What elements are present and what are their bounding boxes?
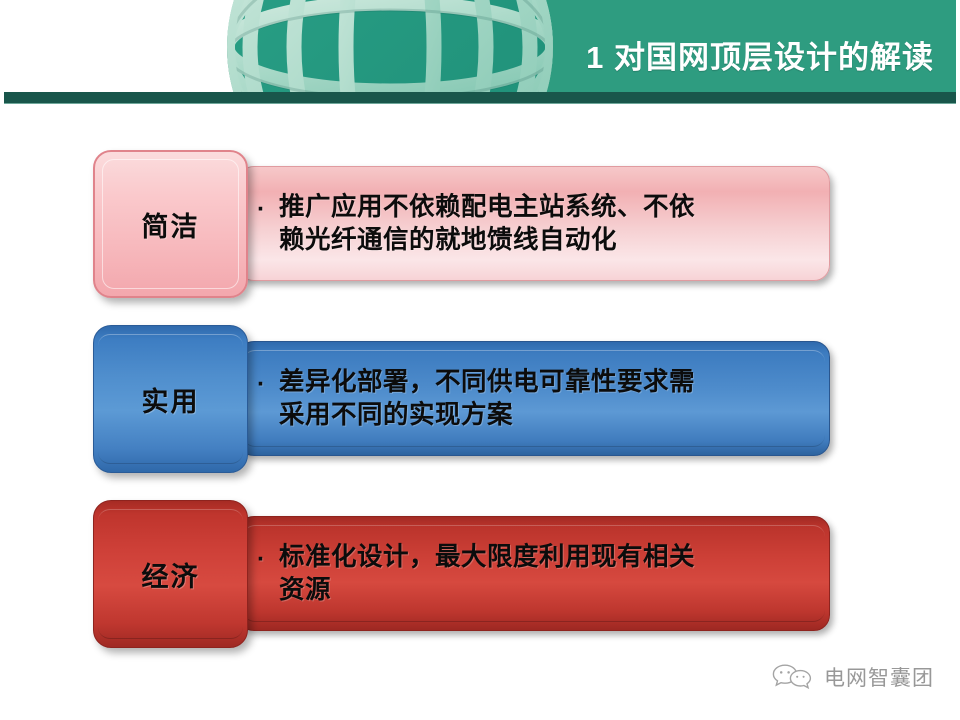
principle-description-line-2: 赖光纤通信的就地馈线自动化 [279, 226, 617, 254]
principle-row-economical: · 标准化设计，最大限度利用现有相关 资源 经济 [0, 500, 960, 650]
principle-description-line-2: 资源 [279, 576, 331, 604]
principle-row-practical: · 差异化部署，不同供电可靠性要求需 采用不同的实现方案 实用 [0, 325, 960, 475]
principle-description-text: · 标准化设计，最大限度利用现有相关 资源 [279, 541, 695, 606]
slide-header: 1 对国网顶层设计的解读 [0, 0, 960, 104]
watermark-label: 电网智囊团 [824, 662, 934, 692]
principle-description-text: · 推广应用不依赖配电主站系统、不依 赖光纤通信的就地馈线自动化 [279, 191, 695, 256]
bullet-icon: · [257, 368, 266, 400]
principle-label-tile-simple: 简洁 [93, 150, 248, 298]
bullet-icon: · [257, 543, 266, 575]
principle-description-bar: · 标准化设计，最大限度利用现有相关 资源 [238, 516, 830, 631]
wechat-bubbles-icon [771, 662, 815, 692]
principle-description-line-1: 标准化设计，最大限度利用现有相关 [279, 543, 695, 571]
principle-label: 实用 [142, 380, 200, 419]
principle-description-text: · 差异化部署，不同供电可靠性要求需 采用不同的实现方案 [279, 366, 695, 431]
bullet-icon: · [257, 193, 266, 225]
principle-label-tile-economical: 经济 [93, 500, 248, 648]
header-divider-rule [4, 92, 956, 104]
principle-description-bar: · 差异化部署，不同供电可靠性要求需 采用不同的实现方案 [238, 341, 830, 456]
principle-description-bar: · 推广应用不依赖配电主站系统、不依 赖光纤通信的就地馈线自动化 [238, 166, 830, 281]
principle-description-line-1: 推广应用不依赖配电主站系统、不依 [279, 193, 695, 221]
principle-label: 经济 [142, 555, 200, 594]
principle-description-line-2: 采用不同的实现方案 [279, 401, 513, 429]
watermark: 电网智囊团 [771, 662, 934, 692]
principle-label: 简洁 [142, 205, 200, 244]
principle-label-tile-practical: 实用 [93, 325, 248, 473]
principle-description-line-1: 差异化部署，不同供电可靠性要求需 [279, 368, 695, 396]
principle-row-simple: · 推广应用不依赖配电主站系统、不依 赖光纤通信的就地馈线自动化 简洁 [0, 150, 960, 300]
page-title: 1 对国网顶层设计的解读 [586, 38, 934, 78]
